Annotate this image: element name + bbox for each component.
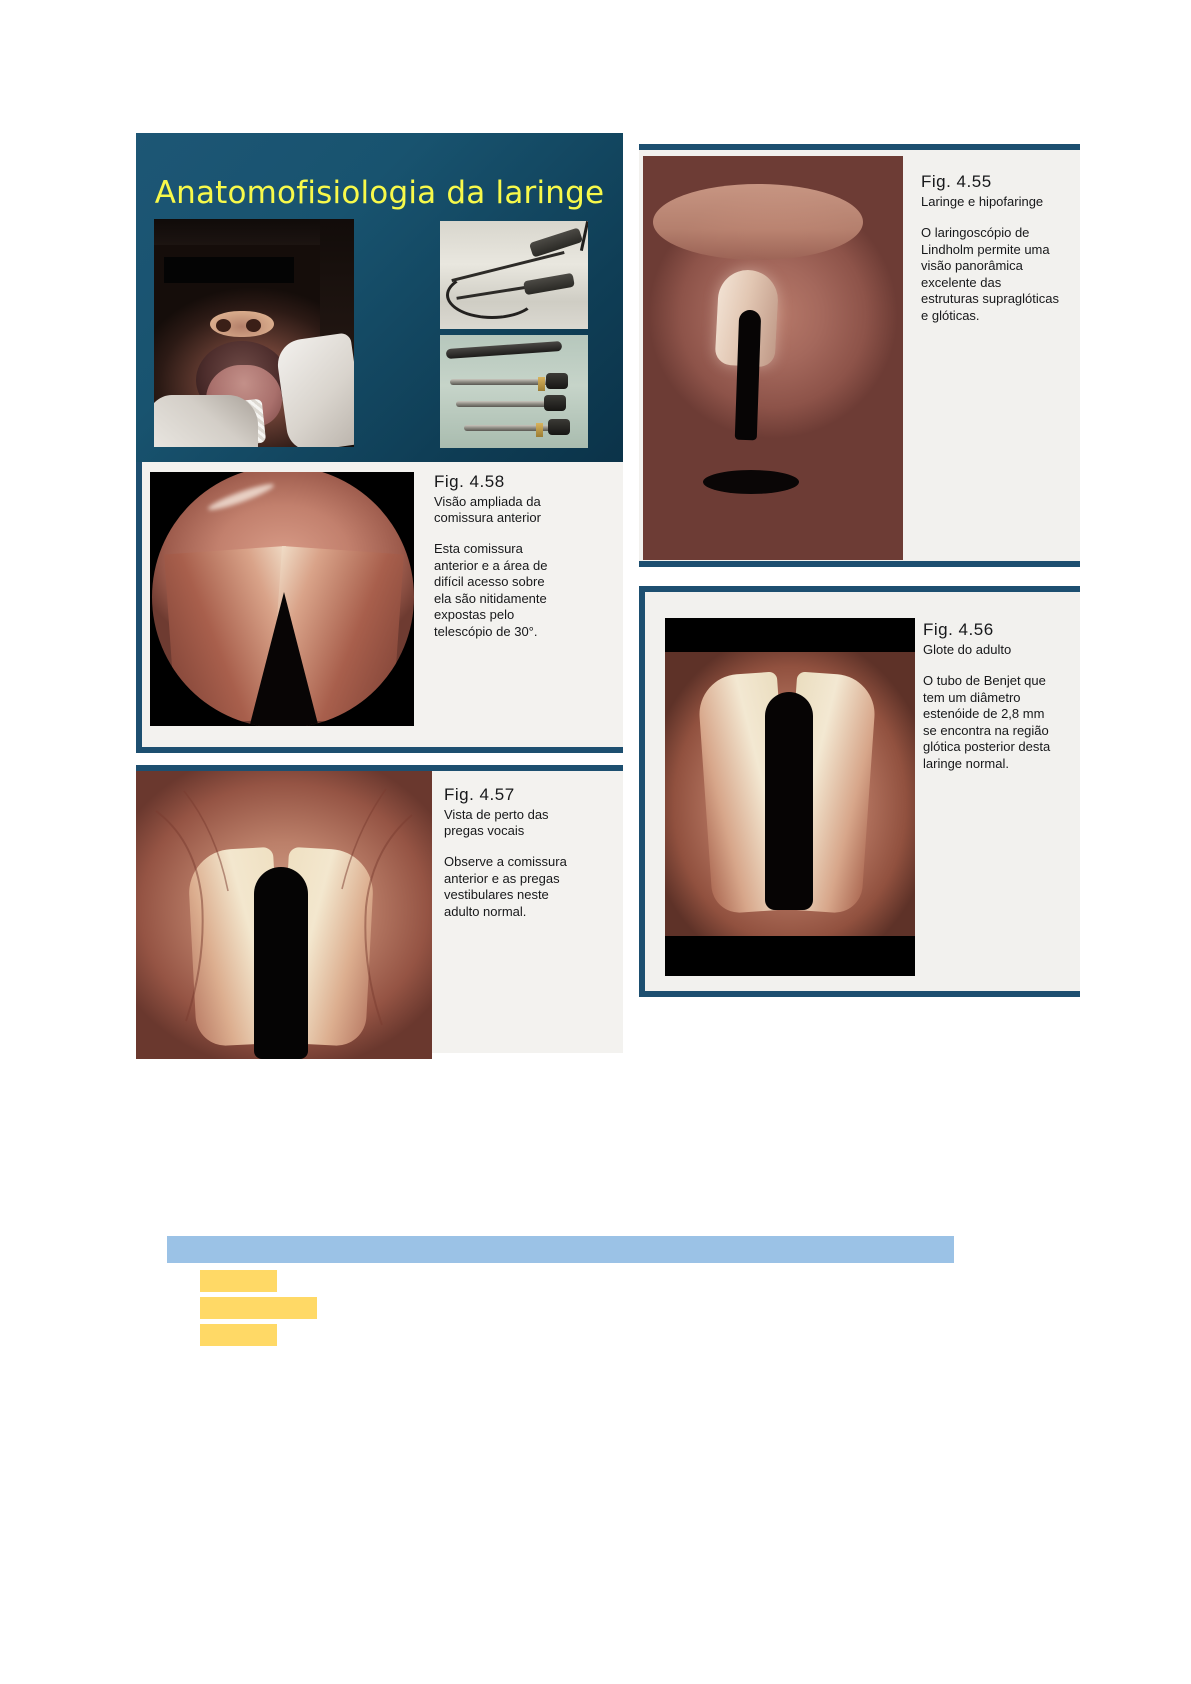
endoscope-circular-field	[152, 472, 414, 726]
bronchoscope	[446, 341, 562, 359]
examiner-glove-left	[154, 395, 258, 447]
yellow-bar-1	[200, 1270, 277, 1292]
figure-body-text: Esta comissura anterior e a área de difí…	[434, 541, 624, 640]
title-slide-panel: Anatomofisiologia da laringe	[136, 133, 623, 462]
telescope-gold-band-2	[536, 423, 543, 437]
endoscopic-view-anterior-commissure	[150, 472, 414, 726]
figure-card-456: Fig. 4.56 Glote do adulto O tubo de Benj…	[639, 586, 1080, 997]
nostril-left	[216, 319, 231, 332]
specular-highlight	[206, 480, 275, 513]
figure-caption-456: Fig. 4.56 Glote do adulto O tubo de Benj…	[923, 620, 1083, 772]
figure-caption-455: Fig. 4.55 Laringe e hipofaringe O laring…	[921, 172, 1071, 324]
privacy-censor-bar	[164, 257, 294, 283]
scope-handle-lower	[523, 273, 575, 295]
figure-card-458: Fig. 4.58 Visão ampliada da comissura an…	[136, 462, 623, 753]
patient-oral-exam-photo	[154, 219, 354, 447]
figure-body-text: O tubo de Benjet que tem um diâmetro est…	[923, 673, 1083, 772]
endoscope-vignette-bottom	[665, 936, 915, 976]
figure-number: Fig. 4.55	[921, 172, 1071, 192]
telescope-eyepiece-2	[544, 395, 566, 411]
examiner-glove-right	[275, 332, 354, 447]
postcricoid-shadow	[703, 470, 799, 494]
glottic-airway-shadow	[248, 592, 320, 726]
figure-subtitle: Glote do adulto	[923, 642, 1083, 658]
telescope-eyepiece-1	[546, 373, 568, 389]
blue-bar	[167, 1236, 954, 1263]
yellow-bar-2	[200, 1297, 317, 1319]
rigid-telescopes-photo	[440, 335, 588, 448]
figure-caption-458: Fig. 4.58 Visão ampliada da comissura an…	[434, 472, 624, 640]
yellow-bar-3	[200, 1324, 277, 1346]
mucosa-field	[136, 771, 432, 1059]
document-page: Anatomofisiologia da laringe	[0, 0, 1191, 1684]
figure-number: Fig. 4.57	[444, 785, 624, 805]
endoscopic-view-larynx-hypopharynx	[643, 156, 903, 560]
nostril-right	[246, 319, 261, 332]
mucosa-field	[665, 618, 915, 976]
figure-number: Fig. 4.56	[923, 620, 1083, 640]
figure-subtitle: Visão ampliada da comissura anterior	[434, 494, 624, 526]
telescope-gold-band-1	[538, 377, 545, 391]
endoscopic-view-adult-glottis	[665, 618, 915, 976]
glottic-aperture	[735, 310, 762, 441]
glottic-airway-shadow	[765, 692, 813, 910]
figure-body-text: O laringoscópio de Lindholm permite uma …	[921, 225, 1071, 324]
page-title: Anatomofisiologia da laringe	[136, 175, 623, 211]
figure-body-text: Observe a comissura anterior e as pregas…	[444, 854, 624, 920]
endoscopic-view-vocal-folds	[136, 771, 432, 1059]
figure-card-457: Fig. 4.57 Vista de perto das pregas voca…	[136, 765, 623, 1053]
telescope-eyepiece-3	[548, 419, 570, 435]
figure-card-455: Fig. 4.55 Laringe e hipofaringe O laring…	[639, 144, 1080, 567]
telescope-rod-2	[456, 401, 552, 407]
epiglottis	[653, 184, 863, 260]
figure-subtitle: Vista de perto das pregas vocais	[444, 807, 624, 839]
mucosal-vessels	[136, 771, 432, 1059]
figure-subtitle: Laringe e hipofaringe	[921, 194, 1071, 210]
figure-caption-457: Fig. 4.57 Vista de perto das pregas voca…	[444, 785, 624, 920]
endoscope-vignette-top	[665, 618, 915, 652]
flexible-laryngoscope-photo	[440, 221, 588, 329]
figure-number: Fig. 4.58	[434, 472, 624, 492]
mucosa-field	[643, 156, 903, 560]
scope-cable-loop	[446, 271, 538, 319]
